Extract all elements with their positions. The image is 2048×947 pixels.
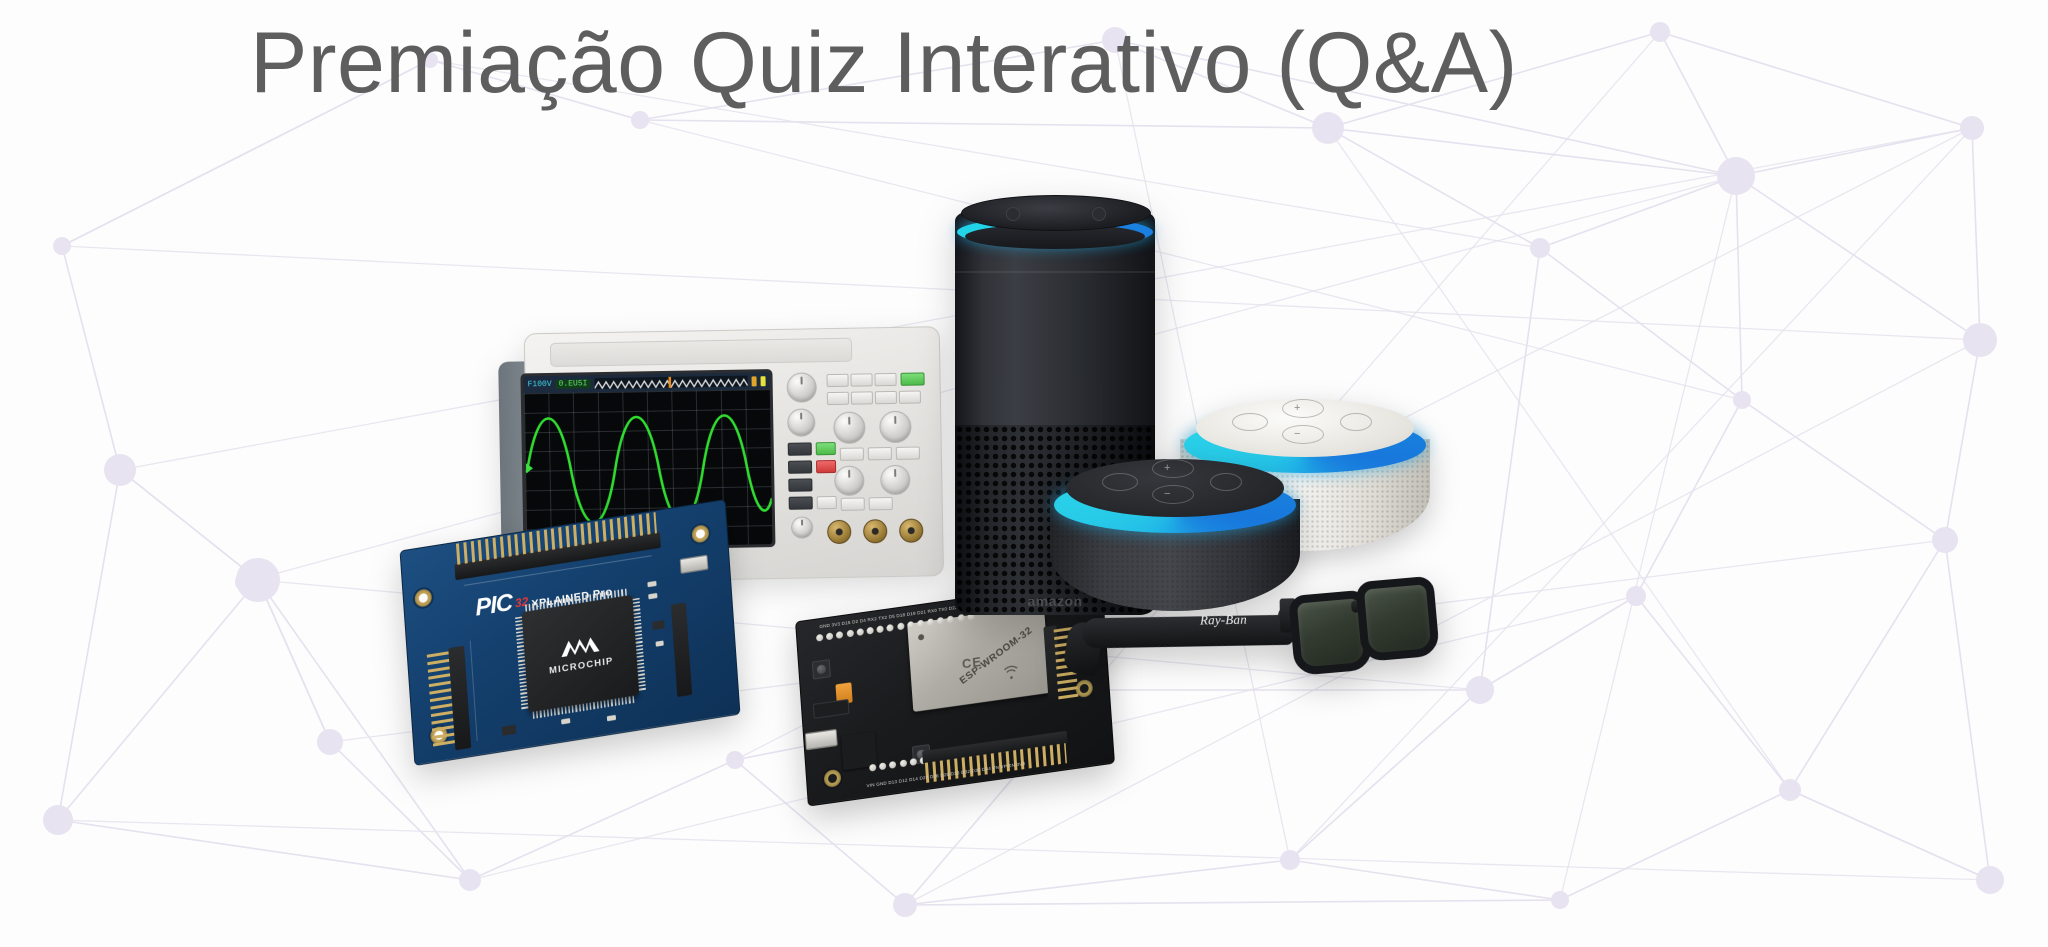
oscilloscope-knob-trigger[interactable]: [879, 411, 912, 444]
esp32-pad: [957, 614, 964, 622]
oscilloscope-timebase-readout: 0.EU5I: [556, 379, 591, 389]
oscilloscope-channel-marker: [526, 463, 533, 473]
product-collage: F100V 0.EU5I: [0, 0, 2048, 947]
pic32-brand-main: PIC: [474, 589, 513, 623]
esp32-pad: [856, 628, 863, 636]
poster-canvas: Premiação Quiz Interativo (Q&A) F100V 0.…: [0, 0, 2048, 947]
oscilloscope-bnc-ch1[interactable]: [827, 520, 851, 544]
esp32-pad: [927, 618, 934, 626]
oscilloscope-button-menu-5[interactable]: [851, 391, 873, 404]
product-pic32-board: PIC 32 XPLAINED Pro MICROCHIP: [400, 499, 741, 766]
esp32-pad: [846, 630, 853, 638]
oscilloscope-led-amber: [751, 376, 756, 386]
oscilloscope-button-print[interactable]: [789, 496, 813, 509]
oscilloscope-button-run[interactable]: [900, 372, 924, 385]
oscilloscope-knob-time-div[interactable]: [880, 465, 911, 496]
microchip-logo-icon: [557, 632, 602, 661]
oscilloscope-button-menu-2[interactable]: [850, 373, 872, 386]
oscilloscope-button-menu-1[interactable]: [826, 374, 848, 387]
oscilloscope-button-menu-6[interactable]: [875, 391, 897, 404]
echo-dot-dark-mic-button[interactable]: [1102, 473, 1138, 491]
esp32-pad: [816, 634, 823, 642]
esp32-pad: [826, 632, 833, 640]
esp32-pad: [869, 764, 876, 772]
esp32-pad: [879, 762, 886, 770]
oscilloscope-knob-multipurpose[interactable]: [791, 516, 813, 538]
esp32-pad: [836, 631, 843, 639]
rayban-temple-arm: [1082, 615, 1292, 649]
oscilloscope-bnc-ext[interactable]: [899, 518, 923, 542]
echo-dot-dark-volume-up-button[interactable]: [1152, 459, 1194, 478]
oscilloscope-button-measure[interactable]: [840, 447, 864, 460]
echo-top-surface: [961, 195, 1151, 231]
oscilloscope-knob-horizontal[interactable]: [833, 411, 866, 444]
esp32-shield-dot: [918, 634, 924, 641]
wifi-icon: [1002, 661, 1020, 680]
oscilloscope-button-cursor[interactable]: [868, 447, 892, 460]
echo-dot-white-action-button[interactable]: [1340, 413, 1372, 431]
esp32-pad: [907, 621, 914, 629]
oscilloscope-led-yellow: [760, 376, 765, 386]
oscilloscope-button-autoset[interactable]: [816, 442, 836, 455]
echo-dot-dark-volume-down-button[interactable]: [1152, 485, 1194, 504]
oscilloscope-button-default[interactable]: [841, 497, 865, 510]
product-rayban-glasses: Ray-Ban: [1076, 530, 1443, 775]
esp32-pad: [937, 617, 944, 625]
oscilloscope-channel-readout: F100V: [528, 380, 552, 389]
echo-dot-white-volume-up-button[interactable]: [1282, 399, 1324, 418]
oscilloscope-waveform-minimap: [594, 376, 747, 390]
rayban-lens-right: [1355, 576, 1440, 662]
oscilloscope-button-stop[interactable]: [816, 460, 836, 473]
echo-mic-button[interactable]: [1006, 207, 1020, 221]
esp32-pad: [889, 761, 896, 769]
esp32-ce-mark: CE: [961, 654, 982, 672]
echo-seam: [955, 271, 1155, 273]
oscilloscope-button-menu-4[interactable]: [827, 392, 849, 405]
echo-dot-dark-action-button[interactable]: [1210, 473, 1242, 491]
oscilloscope-control-panel: [780, 366, 931, 555]
esp32-pad: [917, 620, 924, 628]
esp32-pad: [899, 759, 906, 767]
echo-dot-white-mic-button[interactable]: [1232, 413, 1268, 431]
esp32-pad: [887, 624, 894, 632]
oscilloscope-button-utility[interactable]: [788, 460, 812, 473]
oscilloscope-button-display[interactable]: [788, 442, 812, 455]
oscilloscope-knob-vertical[interactable]: [787, 408, 815, 436]
oscilloscope-button-menu-7[interactable]: [899, 390, 921, 403]
esp32-pad: [947, 615, 954, 623]
esp32-pad: [897, 622, 904, 630]
oscilloscope-knob-position[interactable]: [786, 372, 817, 403]
echo-dot-white-volume-down-button[interactable]: [1282, 425, 1324, 444]
oscilloscope-button-single[interactable]: [869, 497, 893, 510]
esp32-pad: [866, 627, 873, 635]
rayban-front-frame: [1287, 571, 1446, 696]
oscilloscope-bnc-ch2[interactable]: [863, 519, 887, 543]
pic32-microcontroller-chip: MICROCHIP: [522, 595, 640, 713]
esp32-reset-button[interactable]: [812, 659, 831, 680]
rayban-brand-logo: Ray-Ban: [1200, 612, 1247, 629]
oscilloscope-button-help[interactable]: [817, 496, 837, 509]
esp32-pad: [909, 758, 916, 766]
oscilloscope-knob-volts-div[interactable]: [834, 465, 865, 496]
echo-dot-dark-top: + −: [1066, 459, 1284, 517]
oscilloscope-button-menu-3[interactable]: [874, 373, 896, 386]
esp32-pad: [876, 625, 883, 633]
oscilloscope-button-save[interactable]: [788, 478, 812, 491]
echo-dot-white-top: + −: [1196, 399, 1414, 457]
oscilloscope-button-acquire[interactable]: [896, 447, 920, 460]
echo-action-button[interactable]: [1092, 207, 1106, 221]
